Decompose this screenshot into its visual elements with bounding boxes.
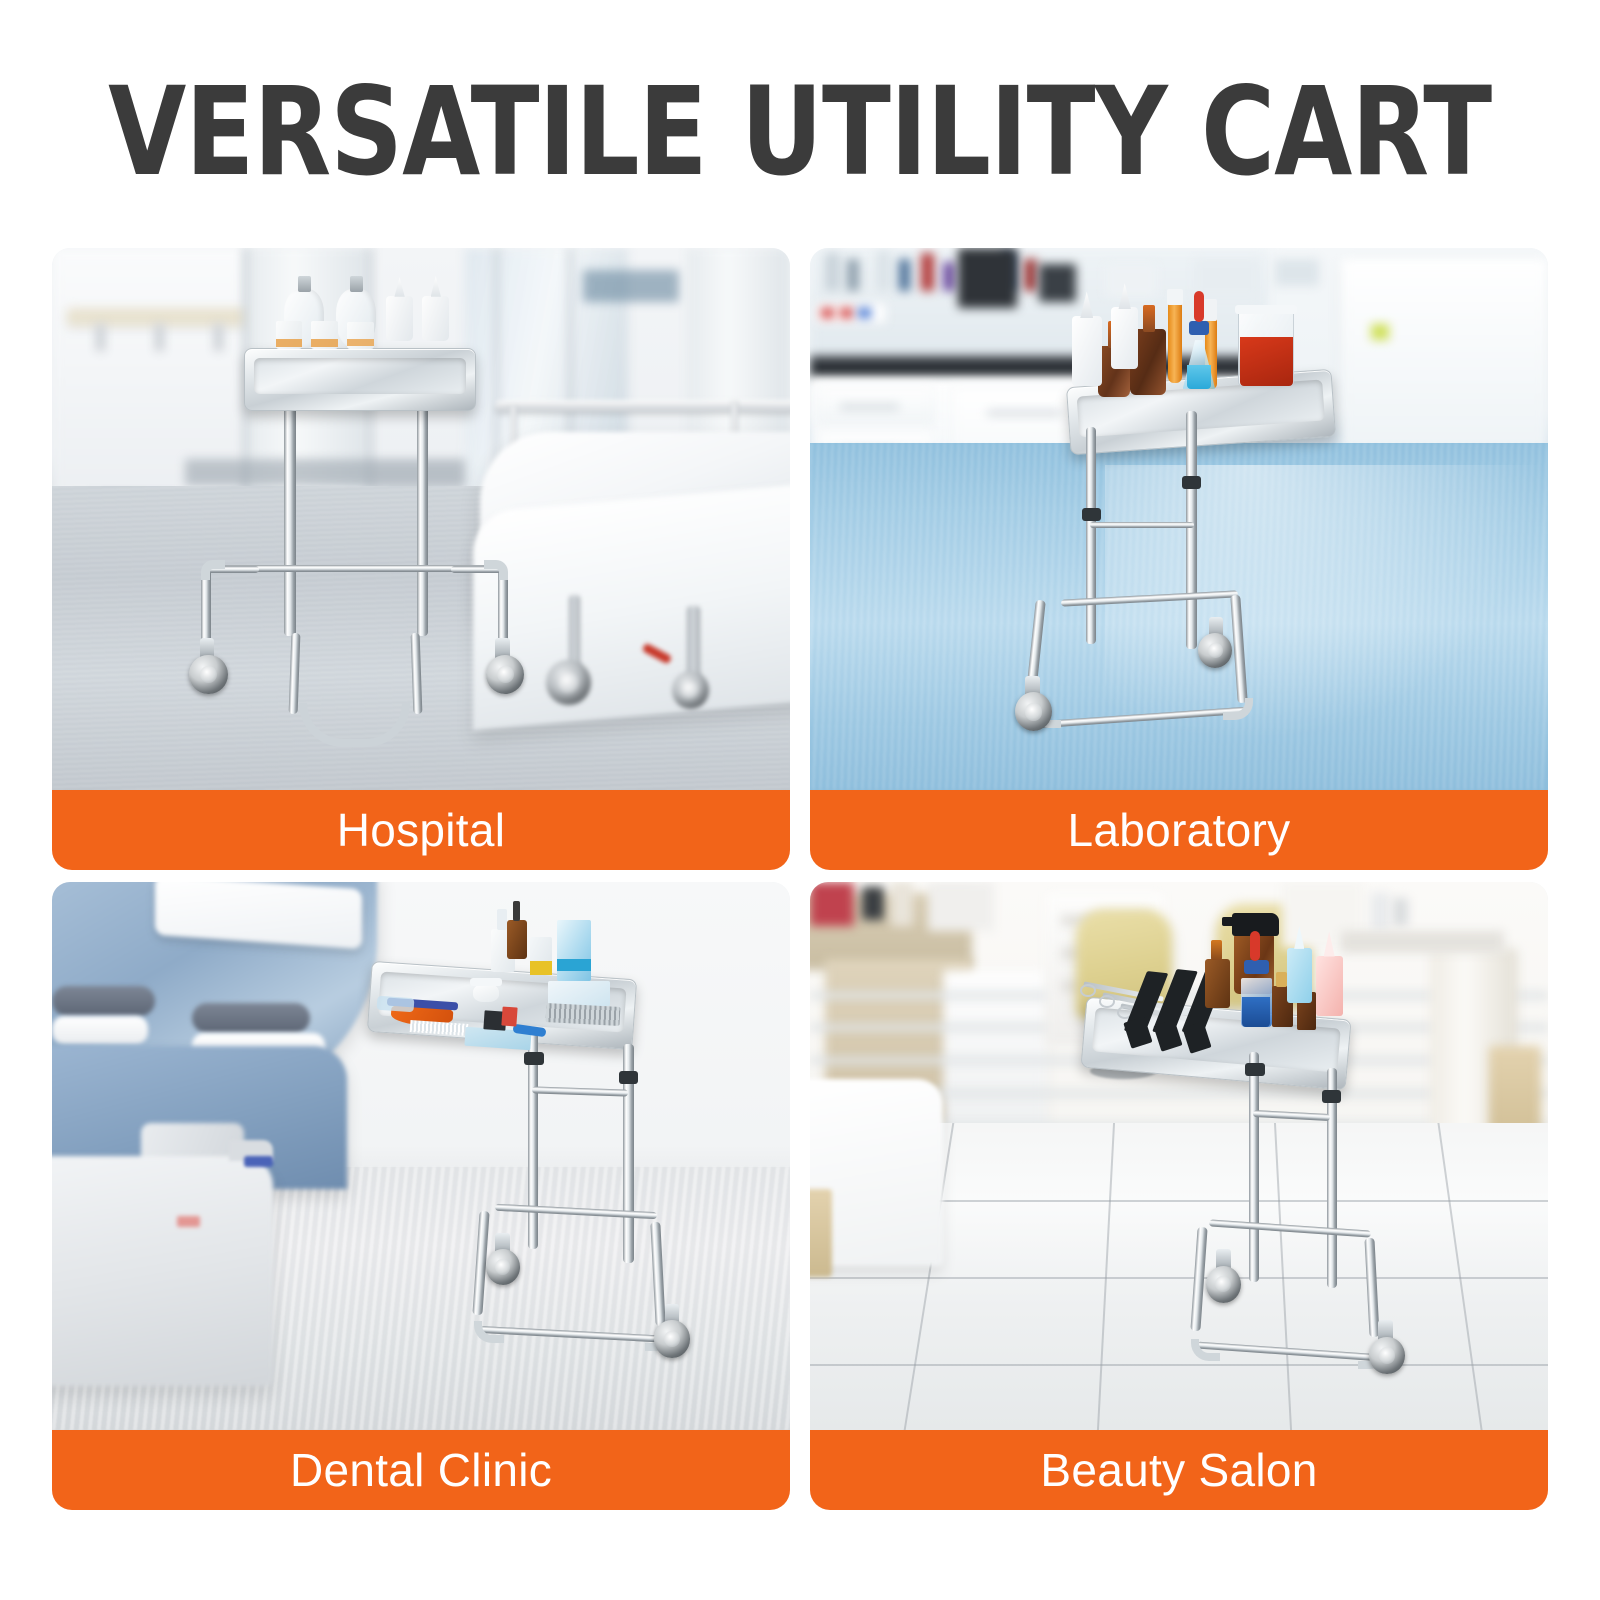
- panel-grid: Hospital: [52, 248, 1548, 1520]
- cart-caster: [486, 655, 524, 695]
- panel-label-dental-clinic: Dental Clinic: [52, 1430, 790, 1510]
- panel-label-beauty-salon: Beauty Salon: [810, 1430, 1548, 1510]
- panel-label-laboratory: Laboratory: [810, 790, 1548, 870]
- panel-label-text: Laboratory: [1068, 803, 1291, 857]
- dental-clinic-scene: [52, 882, 790, 1430]
- page-title-container: VERSATILE UTILITY CART: [0, 62, 1600, 202]
- infographic-page: VERSATILE UTILITY CART: [0, 0, 1600, 1600]
- hospital-scene: [52, 248, 790, 790]
- panel-laboratory[interactable]: Laboratory: [810, 248, 1548, 870]
- cart-caster: [1198, 633, 1232, 668]
- panel-beauty-salon[interactable]: Beauty Salon: [810, 882, 1548, 1510]
- panel-beauty-salon-photo: [810, 882, 1548, 1430]
- beauty-salon-scene: [810, 882, 1548, 1430]
- panel-label-text: Dental Clinic: [290, 1443, 552, 1497]
- cart-caster: [1369, 1337, 1404, 1374]
- panel-laboratory-photo: [810, 248, 1548, 790]
- panel-dental-clinic-photo: [52, 882, 790, 1430]
- panel-label-hospital: Hospital: [52, 790, 790, 870]
- cart-caster: [654, 1320, 689, 1357]
- panel-hospital-photo: [52, 248, 790, 790]
- panel-hospital[interactable]: Hospital: [52, 248, 790, 870]
- laboratory-scene: [810, 248, 1548, 790]
- cart-caster: [1206, 1266, 1241, 1303]
- panel-dental-clinic[interactable]: Dental Clinic: [52, 882, 790, 1510]
- panel-label-text: Hospital: [337, 803, 506, 857]
- panel-label-text: Beauty Salon: [1040, 1443, 1317, 1497]
- cart-caster: [189, 655, 227, 695]
- cart-tray: [244, 348, 476, 410]
- page-title: VERSATILE UTILITY CART: [108, 72, 1491, 192]
- cart-caster: [486, 1249, 520, 1285]
